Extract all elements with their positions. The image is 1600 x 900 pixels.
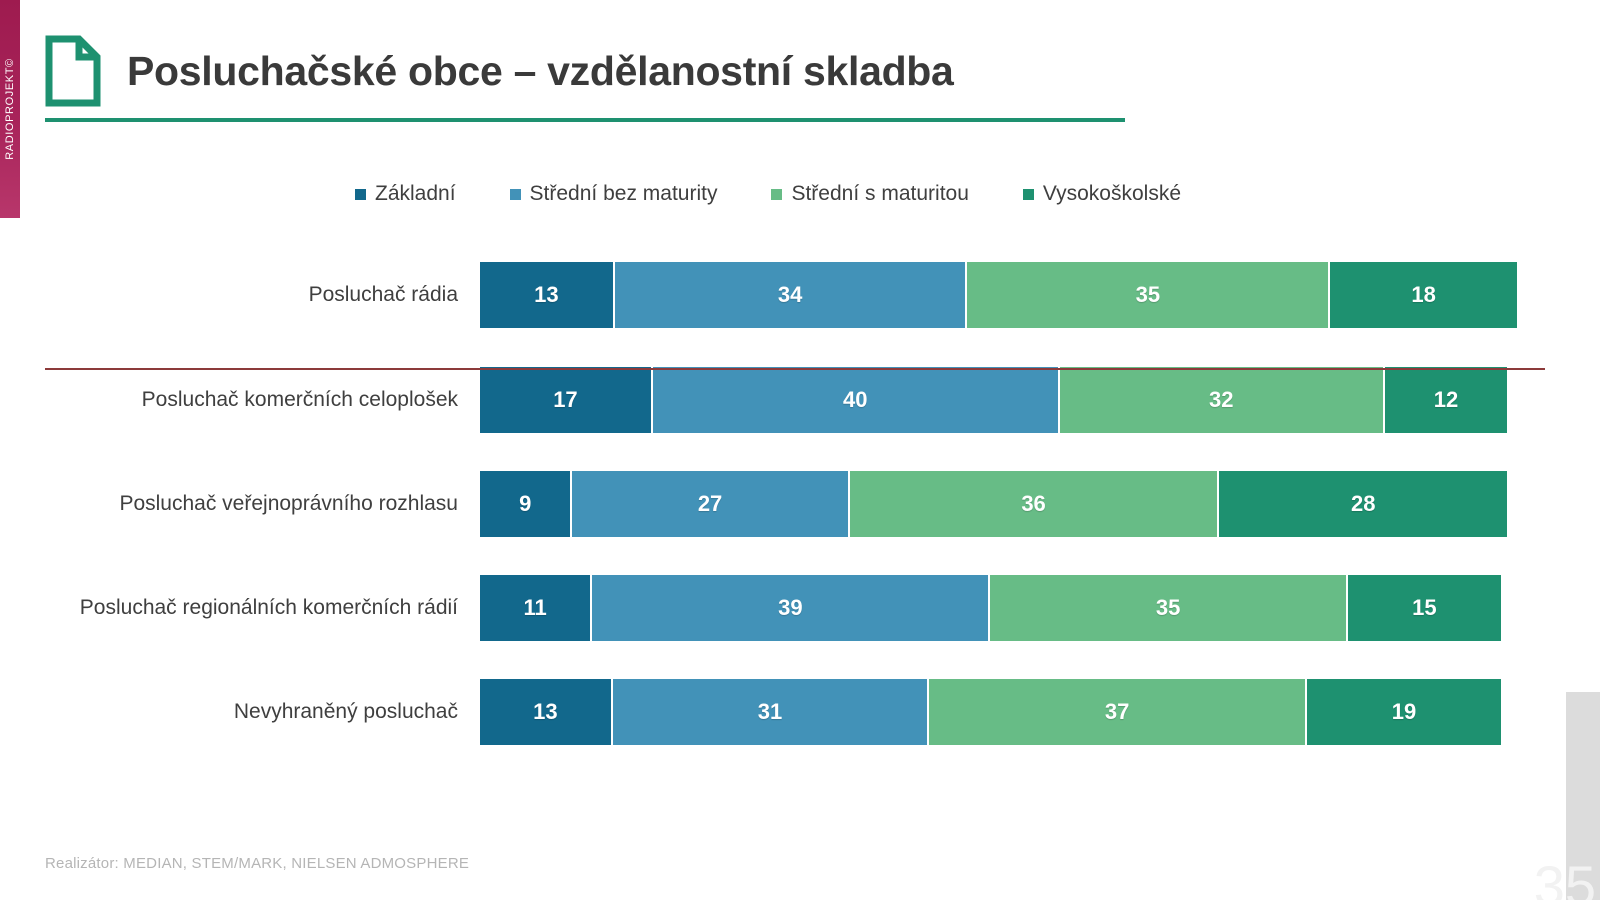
bar-category-label: Posluchač veřejnoprávního rozhlasu [0,492,480,516]
bar-segment[interactable]: 35 [967,262,1330,328]
bar-segment-value: 17 [553,389,577,411]
bar-segment-value: 9 [519,493,531,515]
bar-segment[interactable]: 35 [990,575,1347,641]
legend-label: Vysokoškolské [1043,182,1181,206]
bar-category-label: Posluchač regionálních komerčních rádií [0,596,480,620]
legend-swatch-icon [355,189,366,200]
bar-segment[interactable]: 13 [480,262,615,328]
bar-segment[interactable]: 9 [480,471,572,537]
bar-row: Posluchač veřejnoprávního rozhlasu927362… [0,471,1600,537]
bar-segment[interactable]: 32 [1060,367,1385,433]
legend-swatch-icon [1023,189,1034,200]
bar-row: Posluchač regionálních komerčních rádií1… [0,575,1600,641]
bar-segment-value: 40 [843,389,867,411]
bar-segment-value: 34 [778,284,802,306]
legend-item[interactable]: Střední s maturitou [771,182,968,206]
bar-segment[interactable]: 28 [1219,471,1507,537]
bar-segment-value: 36 [1021,493,1045,515]
bar-track: 11393515 [480,575,1501,641]
bar-row: Posluchač rádia13343518 [0,262,1600,328]
category-divider [45,368,1545,370]
document-icon [45,35,101,107]
bar-segment-value: 35 [1136,284,1160,306]
bar-track: 13313719 [480,679,1501,745]
page-header: Posluchačské obce – vzdělanostní skladba [45,32,1145,132]
bar-segment-value: 13 [534,284,558,306]
stacked-bar-chart: Posluchač rádia13343518Posluchač komerčn… [0,255,1600,795]
bar-segment[interactable]: 34 [615,262,968,328]
bar-segment-value: 18 [1411,284,1435,306]
legend-swatch-icon [510,189,521,200]
bar-row: Nevyhraněný posluchač13313719 [0,679,1600,745]
bar-segment-value: 28 [1351,493,1375,515]
bar-segment[interactable]: 40 [653,367,1060,433]
legend-label: Střední s maturitou [791,182,968,206]
bar-segment[interactable]: 39 [592,575,990,641]
chart-legend: ZákladníStřední bez maturityStřední s ma… [355,182,1181,206]
bar-segment[interactable]: 18 [1330,262,1517,328]
bar-segment[interactable]: 27 [572,471,849,537]
bar-segment[interactable]: 13 [480,679,613,745]
legend-item[interactable]: Vysokoškolské [1023,182,1181,206]
bar-category-label: Posluchač rádia [0,283,480,307]
bar-segment-value: 12 [1434,389,1458,411]
header-row: Posluchačské obce – vzdělanostní skladba [45,32,1145,110]
bar-segment[interactable]: 19 [1307,679,1501,745]
bar-segment-value: 37 [1105,701,1129,723]
bar-segment-value: 35 [1156,597,1180,619]
bar-segment[interactable]: 17 [480,367,653,433]
bar-segment-value: 11 [524,597,547,619]
bar-segment-value: 27 [698,493,722,515]
page-title: Posluchačské obce – vzdělanostní skladba [127,48,954,95]
bar-segment-value: 19 [1392,701,1416,723]
legend-item[interactable]: Střední bez maturity [510,182,718,206]
bar-track: 9273628 [480,471,1507,537]
bar-segment-value: 32 [1209,389,1233,411]
bar-segment[interactable]: 15 [1348,575,1501,641]
legend-label: Základní [375,182,456,206]
bar-category-label: Posluchač komerčních celoplošek [0,388,480,412]
footer-note: Realizátor: MEDIAN, STEM/MARK, NIELSEN A… [45,855,469,872]
bar-segment-value: 39 [778,597,802,619]
bar-segment[interactable]: 31 [613,679,930,745]
bar-segment[interactable]: 11 [480,575,592,641]
bar-segment[interactable]: 36 [850,471,1220,537]
bar-segment[interactable]: 12 [1385,367,1507,433]
legend-label: Střední bez maturity [530,182,718,206]
bar-track: 17403212 [480,367,1507,433]
bar-segment-value: 31 [758,701,782,723]
header-underline [45,118,1125,122]
bar-track: 13343518 [480,262,1517,328]
bar-segment[interactable]: 37 [929,679,1307,745]
bar-category-label: Nevyhraněný posluchač [0,700,480,724]
brand-rail: RADIOPROJEKT© [0,0,20,218]
legend-item[interactable]: Základní [355,182,456,206]
legend-swatch-icon [771,189,782,200]
bar-segment-value: 15 [1412,597,1436,619]
bar-segment-value: 13 [533,701,557,723]
bar-row: Posluchač komerčních celoplošek17403212 [0,367,1600,433]
page-number: 35 [1534,858,1596,900]
brand-rail-label: RADIOPROJEKT© [0,0,20,218]
